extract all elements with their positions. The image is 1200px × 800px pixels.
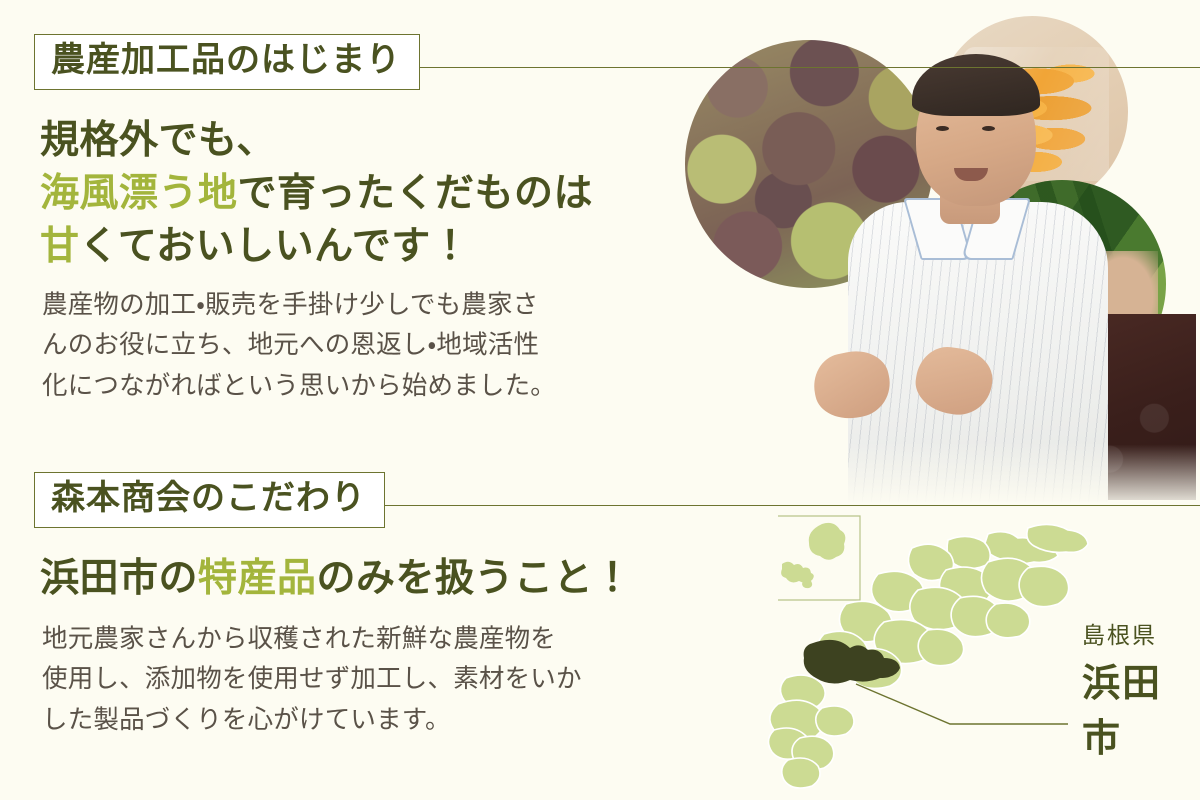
- section-2-lede: 浜田市の特産品のみを扱うこと！: [40, 552, 760, 605]
- section-2-paragraph: 地元農家さんから収穫された新鮮な農産物を 使用し、添加物を使用せず加工し、素材を…: [42, 619, 760, 740]
- section-1-paragraph-line-1: 農産物の加工・販売を手掛け少しでも農家さ: [42, 285, 760, 325]
- section-2-paragraph-line-2: 使用し、添加物を使用せず加工し、素材をいか: [42, 659, 760, 699]
- portrait-eye-left: [936, 126, 949, 131]
- section-2-paragraph-line-1: 地元農家さんから収穫された新鮮な農産物を: [42, 619, 760, 659]
- municipality-izumo-south: [986, 603, 1030, 638]
- municipality-hamada-east: [816, 706, 854, 736]
- section-1-heading-row: 農産加工品のはじまり: [0, 28, 760, 100]
- section-1-lede-line-1: 規格外でも、: [40, 114, 760, 167]
- section-1-lede: 規格外でも、 海風漂う地で育ったくだものは 甘くておいしいんです！: [40, 114, 760, 273]
- section-1-lede-seg-3b: くておいしいんです！: [80, 224, 471, 269]
- section-2-heading-text: 森本商会のこだわり: [51, 480, 366, 517]
- map-prefecture-label: 島根県: [1082, 616, 1200, 650]
- municipality-kawamoto: [918, 629, 963, 665]
- section-1-paragraph: 農産物の加工・販売を手掛け少しでも農家さ んのお役に立ち、地元への恩返し・地域活…: [42, 285, 760, 406]
- municipality-masuda-south: [782, 758, 820, 788]
- portrait-eye-right: [982, 126, 995, 131]
- section-1-lede-seg-2b: で育ったくだものは: [238, 171, 594, 216]
- section-1-paragraph-line-3: 化につながればという思いから始めました。: [42, 366, 760, 406]
- section-origin-story: 農産加工品のはじまり 規格外でも、 海風漂う地で育ったくだものは 甘くておいしい…: [0, 28, 760, 406]
- section-commitment: 森本商会のこだわり 浜田市の特産品のみを扱うこと！ 地元農家さんから収穫された新…: [0, 466, 760, 740]
- section-1-lede-seg-2a: 海風漂う地: [40, 171, 238, 216]
- section-1-paragraph-line-2: んのお役に立ち、地元への恩返し・地域活性: [42, 325, 760, 365]
- oki-inset: [778, 516, 860, 600]
- poster-canvas: 農産加工品のはじまり 規格外でも、 海風漂う地で育ったくだものは 甘くておいしい…: [0, 0, 1200, 800]
- map-leader-line: [856, 684, 1068, 724]
- section-1-lede-line-2: 海風漂う地で育ったくだものは: [40, 167, 760, 220]
- section-2-lede-seg-1a: 浜田市の: [40, 556, 198, 601]
- section-2-heading-row: 森本商会のこだわり: [0, 466, 760, 538]
- portrait-photo: [808, 52, 1168, 500]
- section-2-paragraph-line-3: した製品づくりを心がけています。: [42, 700, 760, 740]
- section-1-heading-box: 農産加工品のはじまり: [34, 34, 420, 90]
- section-2-lede-seg-1b: 特産品: [198, 556, 317, 601]
- map-label: 島根県 浜田市: [1082, 616, 1200, 762]
- map-city-label: 浜田市: [1082, 652, 1200, 762]
- shimane-map: 島根県 浜田市: [760, 512, 1200, 800]
- section-1-heading-text: 農産加工品のはじまり: [51, 42, 401, 79]
- municipality-yasugi: [1019, 566, 1069, 606]
- section-2-heading-box: 森本商会のこだわり: [34, 472, 385, 528]
- oki-dogo-island: [809, 523, 846, 560]
- section-2-lede-line-1: 浜田市の特産品のみを扱うこと！: [40, 552, 760, 605]
- section-1-lede-seg-3a: 甘: [40, 224, 80, 269]
- portrait-hair: [912, 54, 1040, 116]
- section-1-lede-seg-1: 規格外でも、: [40, 118, 276, 163]
- section-2-lede-seg-1c: のみを扱うこと！: [317, 556, 633, 601]
- section-1-lede-line-3: 甘くておいしいんです！: [40, 220, 760, 273]
